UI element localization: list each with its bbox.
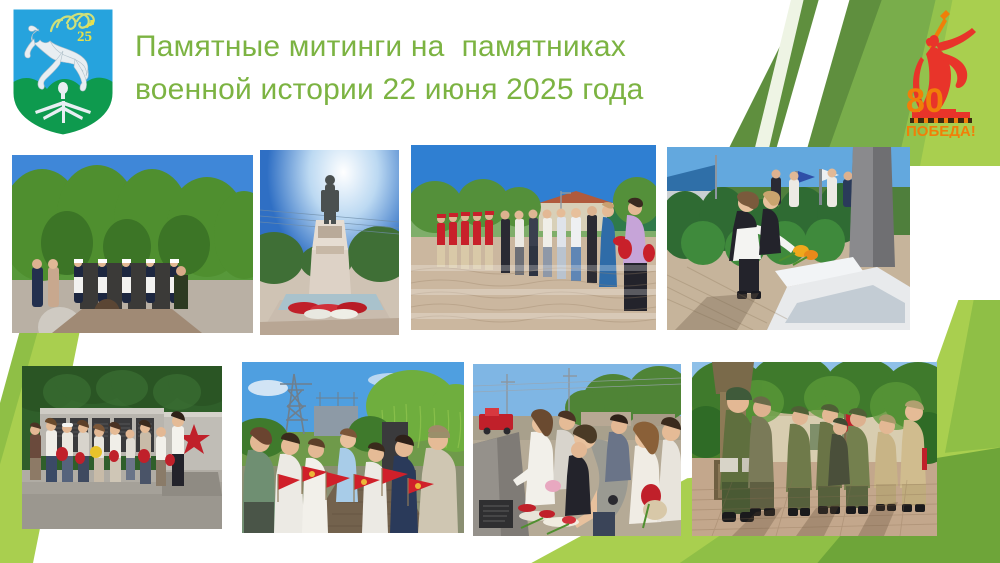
photo-bottom-2 xyxy=(242,362,464,533)
title-line-1: Памятные митинги на памятниках xyxy=(135,26,785,69)
photo-top-3 xyxy=(411,145,656,330)
photo-top-4 xyxy=(667,147,910,330)
svg-text:25: 25 xyxy=(77,29,92,45)
coat-of-arms-icon: 25 xyxy=(9,5,117,139)
slide-header: 25 Памятные митинги на памятниках военно… xyxy=(0,0,1000,150)
page-title: Памятные митинги на памятниках военной и… xyxy=(135,26,785,111)
svg-text:80: 80 xyxy=(906,82,944,120)
photo-bottom-1 xyxy=(22,366,222,529)
photo-top-1 xyxy=(12,155,253,333)
photo-top-2 xyxy=(260,150,399,335)
title-line-2: военной истории 22 июня 2025 года xyxy=(135,69,785,112)
slide-root: 25 Памятные митинги на памятниках военно… xyxy=(0,0,1000,563)
decor-wedge-right-strip2 xyxy=(938,300,1000,490)
victory-80-logo-icon: 80 ПОБЕДА! xyxy=(898,8,984,138)
photo-bottom-4 xyxy=(692,362,937,536)
svg-text:ПОБЕДА!: ПОБЕДА! xyxy=(906,123,976,138)
photo-bottom-3 xyxy=(473,364,681,536)
